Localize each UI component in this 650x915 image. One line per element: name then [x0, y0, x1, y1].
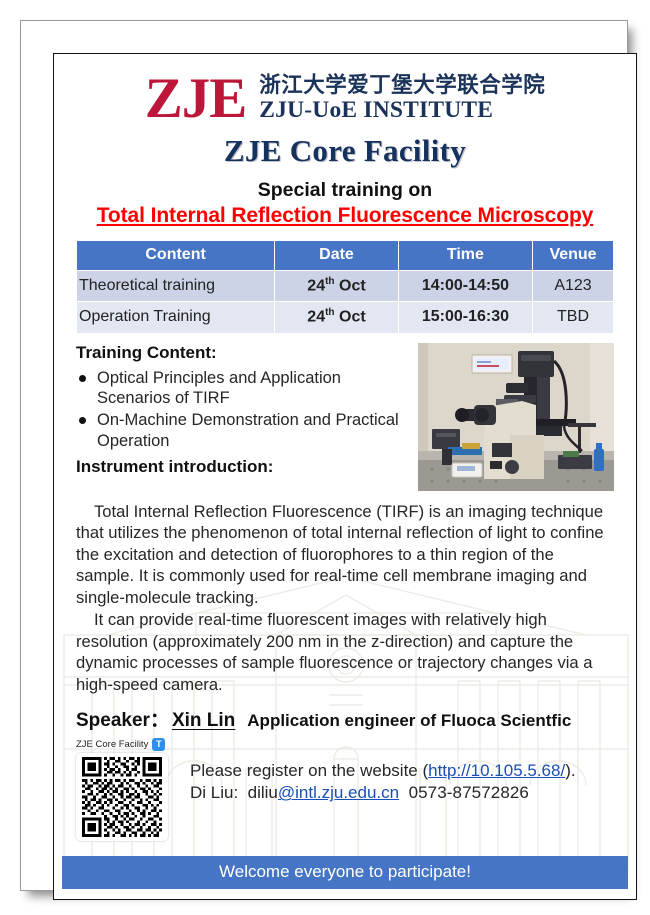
list-item: Optical Principles and Application Scena…: [76, 368, 410, 410]
list-item: On-Machine Demonstration and Practical O…: [76, 410, 410, 452]
masthead: ZJE 浙江大学爱丁堡大学联合学院 ZJU-UoE INSTITUTE: [54, 54, 636, 127]
schedule-table-wrapper: Content Date Time Venue Theoretical trai…: [76, 240, 614, 334]
date-day: 24: [307, 277, 325, 294]
cell-date: 24th Oct: [275, 302, 398, 332]
cell-content: Theoretical training: [77, 271, 274, 301]
cell-time: 15:00-16:30: [399, 302, 532, 332]
date-month: Oct: [339, 309, 366, 326]
column-header-date: Date: [275, 241, 398, 270]
microscope-photo: [418, 343, 614, 491]
qr-code-art: [80, 757, 164, 837]
training-content-list: Optical Principles and Application Scena…: [76, 368, 410, 452]
description-paragraph-2: It can provide real-time fluorescent ima…: [76, 609, 614, 695]
date-ordinal: th: [325, 307, 334, 318]
speaker-name: Xin Lin: [172, 710, 235, 731]
zje-logo: ZJE: [145, 71, 247, 127]
instrument-description: Total Internal Reflection Fluorescence (…: [76, 501, 614, 696]
instrument-photo-wrapper: [418, 343, 614, 491]
cell-venue: A123: [533, 271, 613, 301]
cell-content: Operation Training: [77, 302, 274, 332]
registration-block: ZJE Core Facility T: [76, 738, 614, 841]
core-facility-title: ZJE Core Facility: [54, 133, 636, 169]
institute-name-chinese: 浙江大学爱丁堡大学联合学院: [259, 74, 545, 97]
register-suffix: ).: [565, 761, 575, 780]
date-day: 24: [307, 309, 325, 326]
training-content-heading: Training Content:: [76, 343, 410, 363]
poster-inner-frame: ZJE 浙江大学爱丁堡大学联合学院 ZJU-UoE INSTITUTE ZJE …: [53, 53, 637, 900]
contact-email-user: diliu: [248, 783, 278, 802]
wecom-icon: T: [152, 738, 165, 751]
contact-name: Di Liu:: [190, 783, 238, 802]
column-header-content: Content: [77, 241, 274, 270]
qr-column: ZJE Core Facility T: [76, 738, 172, 841]
schedule-table: Content Date Time Venue Theoretical trai…: [76, 240, 614, 334]
register-line: Please register on the website (http://1…: [190, 760, 614, 783]
register-prefix: Please register on the website (: [190, 761, 428, 780]
topic-title: Total Internal Reflection Fluorescence M…: [54, 204, 636, 228]
qr-caption: ZJE Core Facility T: [76, 738, 172, 751]
cell-date: 24th Oct: [275, 271, 398, 301]
poster-outer-frame: ZJE 浙江大学爱丁堡大学联合学院 ZJU-UoE INSTITUTE ZJE …: [20, 20, 628, 891]
date-ordinal: th: [325, 276, 334, 287]
qr-code[interactable]: [76, 753, 168, 841]
description-paragraph-1: Total Internal Reflection Fluorescence (…: [76, 501, 614, 609]
microscope-photo-art: [418, 343, 614, 491]
contact-person-line: Di Liu: diliu@intl.zju.edu.cn 0573-87572…: [190, 782, 614, 805]
contact-email-link[interactable]: @intl.zju.edu.cn: [278, 783, 399, 802]
speaker-line: Speaker：Xin LinApplication engineer of F…: [76, 705, 614, 732]
qr-caption-label: ZJE Core Facility: [76, 739, 148, 750]
training-content-block: Training Content: Optical Principles and…: [76, 343, 410, 491]
table-row: Theoretical training 24th Oct 14:00-14:5…: [77, 271, 613, 301]
column-header-venue: Venue: [533, 241, 613, 270]
training-and-photo-section: Training Content: Optical Principles and…: [76, 343, 614, 491]
speaker-label: Speaker：: [76, 710, 169, 731]
institute-names: 浙江大学爱丁堡大学联合学院 ZJU-UoE INSTITUTE: [259, 74, 545, 124]
cell-venue: TBD: [533, 302, 613, 332]
registration-link[interactable]: http://10.105.5.68/: [428, 761, 565, 780]
cell-time: 14:00-14:50: [399, 271, 532, 301]
welcome-banner: Welcome everyone to participate!: [62, 856, 628, 889]
instrument-introduction-heading: Instrument introduction:: [76, 457, 410, 477]
table-header-row: Content Date Time Venue: [77, 241, 613, 270]
date-month: Oct: [339, 277, 366, 294]
table-row: Operation Training 24th Oct 15:00-16:30 …: [77, 302, 613, 332]
column-header-time: Time: [399, 241, 532, 270]
poster-page: ZJE 浙江大学爱丁堡大学联合学院 ZJU-UoE INSTITUTE ZJE …: [0, 0, 650, 915]
speaker-role: Application engineer of Fluoca Scientfic: [247, 711, 571, 730]
special-training-label: Special training on: [54, 179, 636, 202]
institute-name-english: ZJU-UoE INSTITUTE: [259, 98, 545, 123]
contact-phone: 0573-87572826: [409, 783, 529, 802]
contact-info: Please register on the website (http://1…: [190, 738, 614, 805]
